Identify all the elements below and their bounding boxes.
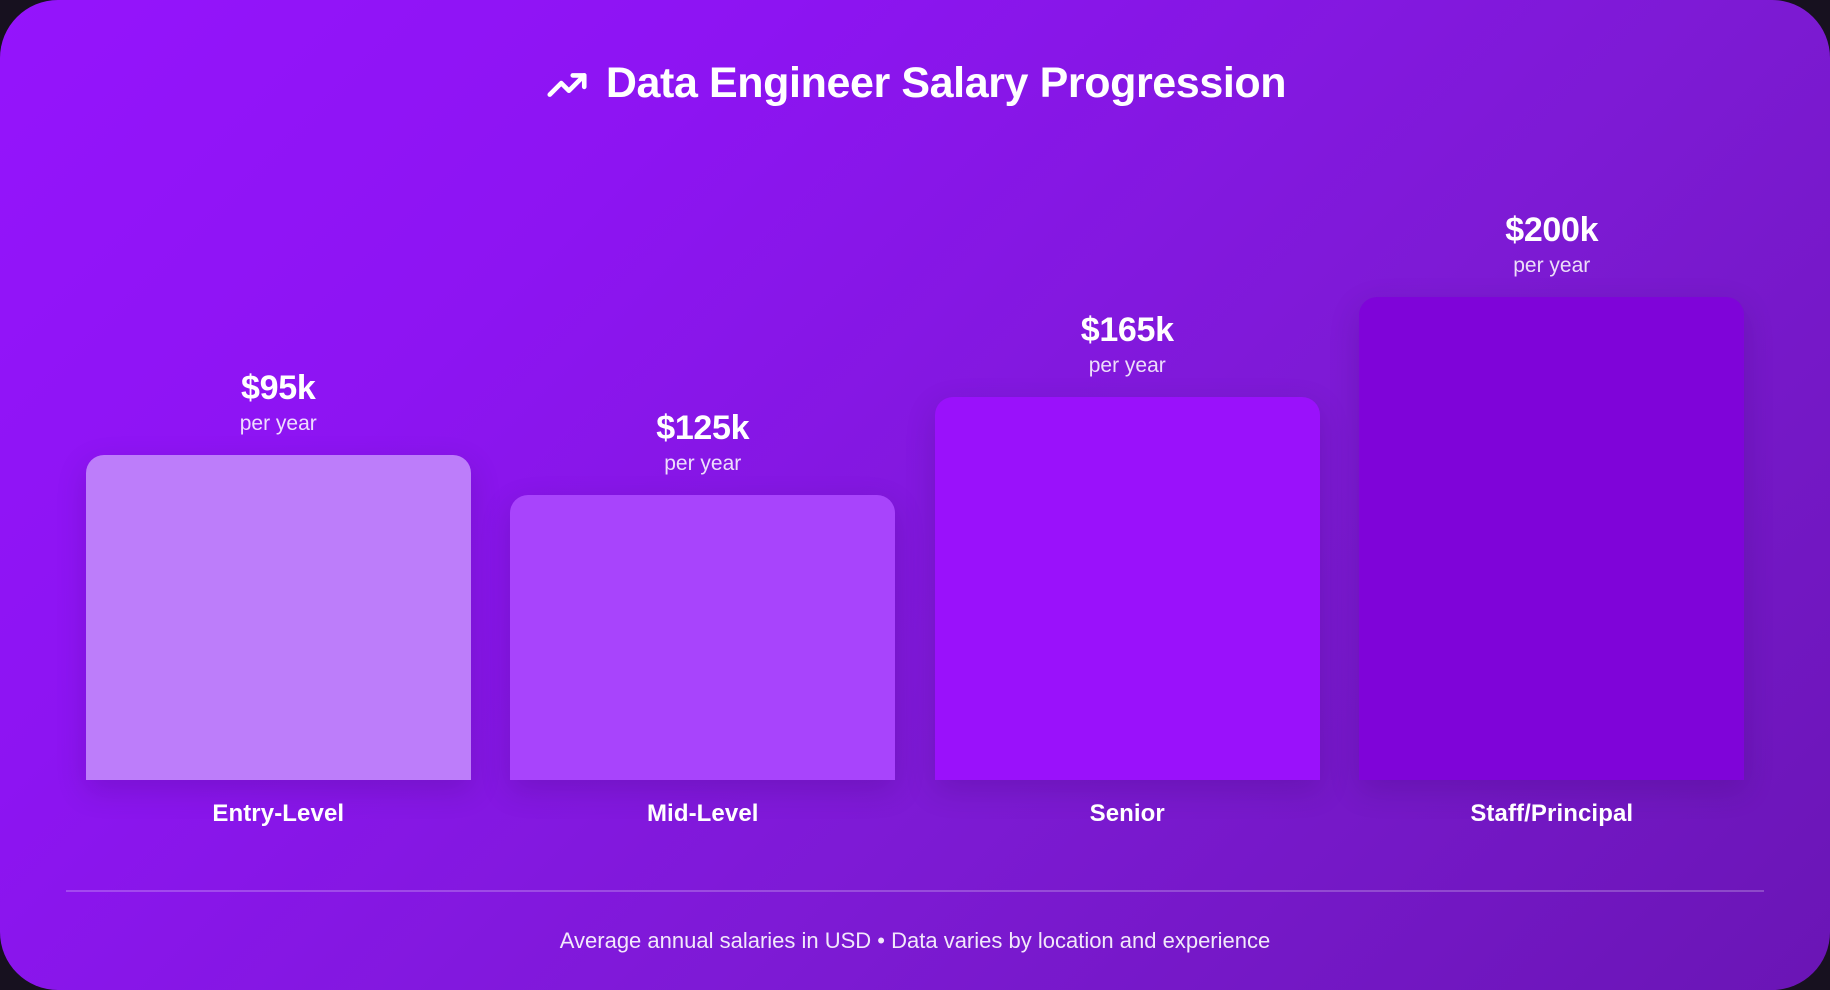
page-title: Data Engineer Salary Progression — [606, 59, 1286, 108]
bar-chart-plot: $95k per year $125k per year $165k per y… — [66, 130, 1764, 780]
bar-label-group: $165k per year — [1081, 311, 1174, 383]
bar-group-entry-level[interactable]: $95k per year — [66, 130, 491, 780]
salary-chart-card: Data Engineer Salary Progression $95k pe… — [0, 0, 1830, 990]
footer-divider — [66, 890, 1764, 892]
bar-rect[interactable] — [935, 397, 1320, 780]
bar-value-label: $95k — [241, 369, 315, 407]
category-axis: Entry-Level Mid-Level Senior Staff/Princ… — [66, 800, 1764, 828]
bar-unit-label: per year — [664, 447, 741, 481]
bar-rect[interactable] — [510, 495, 895, 780]
category-label-mid-level: Mid-Level — [491, 800, 916, 828]
bar-rect[interactable] — [86, 455, 471, 780]
bar-label-group: $95k per year — [240, 369, 317, 441]
bar-label-group: $125k per year — [656, 409, 749, 481]
bar-rect[interactable] — [1359, 297, 1744, 780]
bar-label-group: $200k per year — [1505, 211, 1598, 283]
bar-value-label: $165k — [1081, 311, 1174, 349]
chart-header: Data Engineer Salary Progression — [0, 58, 1830, 108]
category-label-senior: Senior — [915, 800, 1340, 828]
bar-unit-label: per year — [1513, 249, 1590, 283]
bar-unit-label: per year — [240, 407, 317, 441]
bar-group-senior[interactable]: $165k per year — [915, 130, 1340, 780]
bar-value-label: $125k — [656, 409, 749, 447]
category-label-entry-level: Entry-Level — [66, 800, 491, 828]
bar-group-mid-level[interactable]: $125k per year — [491, 130, 916, 780]
bar-value-label: $200k — [1505, 211, 1598, 249]
footer-note: Average annual salaries in USD • Data va… — [0, 928, 1830, 954]
bar-group-staff-principal[interactable]: $200k per year — [1340, 130, 1765, 780]
category-label-staff-principal: Staff/Principal — [1340, 800, 1765, 828]
bar-unit-label: per year — [1089, 349, 1166, 383]
trending-up-icon — [544, 58, 590, 108]
